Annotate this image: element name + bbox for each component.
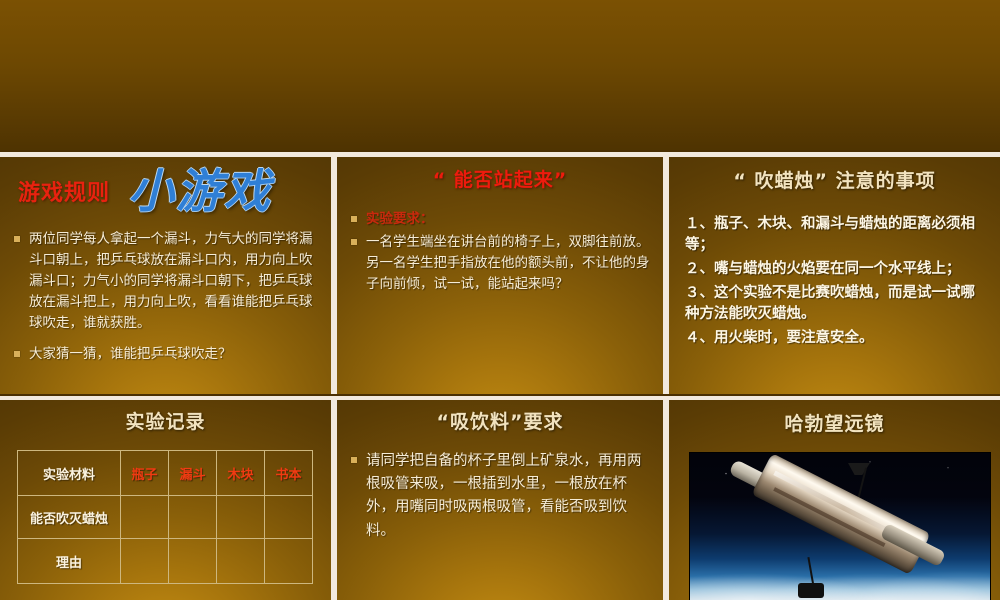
table-header-cell: 木块 bbox=[217, 451, 265, 496]
bullet-text: 一名学生端坐在讲台前的椅子上，双脚往前放。另一名学生把手指放在他的额头前，不让他… bbox=[366, 232, 651, 295]
bullet-text-requirement: 实验要求： bbox=[366, 209, 651, 230]
panel-title: “吸饮料”要求 bbox=[337, 412, 663, 434]
square-bullet-icon bbox=[351, 216, 357, 222]
list-item: ３、这个实验不是比赛吹蜡烛，而是试一试哪种方法能吹灭蜡烛。 bbox=[685, 282, 987, 324]
panel-title: 实验记录 bbox=[0, 412, 331, 434]
panel-title: 哈勃望远镜 bbox=[669, 414, 1000, 436]
panel-hubble-telescope: 哈勃望远镜 bbox=[669, 400, 1000, 600]
table-header-cell: 书本 bbox=[265, 451, 313, 496]
list-item: 请同学把自备的杯子里倒上矿泉水，再用两根吸管来吸，一根插到水里，一根放在杯外，用… bbox=[351, 450, 653, 543]
table-row-label: 理由 bbox=[18, 539, 121, 584]
slide-top-banner bbox=[0, 0, 1000, 152]
table-cell[interactable] bbox=[217, 496, 265, 539]
table-header-cell: 漏斗 bbox=[169, 451, 217, 496]
bullet-text: 两位同学每人拿起一个漏斗，力气大的同学将漏斗口朝上，把乒乓球放在漏斗口内，用力向… bbox=[29, 229, 319, 334]
list-item: 两位同学每人拿起一个漏斗，力气大的同学将漏斗口朝上，把乒乓球放在漏斗口内，用力向… bbox=[14, 229, 319, 334]
list-item: ４、用火柴时，要注意安全。 bbox=[685, 327, 987, 348]
panel-title: “ 能否站起来” bbox=[337, 170, 663, 192]
table-row-label: 实验材料 bbox=[18, 451, 121, 496]
square-bullet-icon bbox=[351, 239, 357, 245]
panel-title: “ 吹蜡烛” 注意的事项 bbox=[669, 171, 1000, 193]
experiment-record-table: 实验材料 瓶子 漏斗 木块 书本 能否吹灭蜡烛 理由 bbox=[17, 450, 313, 584]
table-row-label: 能否吹灭蜡烛 bbox=[18, 496, 121, 539]
list-item: 一名学生端坐在讲台前的椅子上，双脚往前放。另一名学生把手指放在他的额头前，不让他… bbox=[351, 232, 651, 295]
table-header-cell: 瓶子 bbox=[121, 451, 169, 496]
list-item: ２、嘴与蜡烛的火焰要在同一个水平线上； bbox=[685, 258, 987, 279]
list-item: 实验要求： bbox=[351, 209, 651, 230]
list-item: 大家猜一猜，谁能把乒乓球吹走？ bbox=[14, 344, 319, 365]
bullet-text: 大家猜一猜，谁能把乒乓球吹走？ bbox=[29, 344, 319, 365]
panel-experiment-record: 实验记录 实验材料 瓶子 漏斗 木块 书本 能否吹灭蜡烛 理由 bbox=[0, 400, 331, 600]
table-cell[interactable] bbox=[265, 539, 313, 584]
table-row: 能否吹灭蜡烛 bbox=[18, 496, 313, 539]
table-cell[interactable] bbox=[169, 539, 217, 584]
panel-drink-requirements: “吸饮料”要求 请同学把自备的杯子里倒上矿泉水，再用两根吸管来吸，一根插到水里，… bbox=[337, 400, 663, 600]
table-cell[interactable] bbox=[217, 539, 265, 584]
table-row: 实验材料 瓶子 漏斗 木块 书本 bbox=[18, 451, 313, 496]
square-bullet-icon bbox=[14, 236, 20, 242]
banner-hairline bbox=[0, 150, 1000, 152]
list-item: １、瓶子、木块、和漏斗与蜡烛的距离必须相等； bbox=[685, 213, 987, 255]
dish-antenna bbox=[798, 583, 824, 598]
hubble-telescope-image bbox=[690, 453, 990, 600]
presentation-slide: 游戏规则 小游戏 两位同学每人拿起一个漏斗，力气大的同学将漏斗口朝上，把乒乓球放… bbox=[0, 0, 1000, 600]
table-cell[interactable] bbox=[265, 496, 313, 539]
table-cell[interactable] bbox=[169, 496, 217, 539]
table-row: 理由 bbox=[18, 539, 313, 584]
square-bullet-icon bbox=[14, 351, 20, 357]
panel-game-rules: 游戏规则 小游戏 两位同学每人拿起一个漏斗，力气大的同学将漏斗口朝上，把乒乓球放… bbox=[0, 157, 331, 394]
table-cell[interactable] bbox=[121, 539, 169, 584]
bullet-text: 请同学把自备的杯子里倒上矿泉水，再用两根吸管来吸，一根插到水里，一根放在杯外，用… bbox=[366, 450, 653, 543]
square-bullet-icon bbox=[351, 457, 357, 463]
panel-candle-notes: “ 吹蜡烛” 注意的事项 １、瓶子、木块、和漏斗与蜡烛的距离必须相等； ２、嘴与… bbox=[669, 157, 1000, 394]
row-hairline bbox=[0, 394, 1000, 396]
game-rules-red-heading: 游戏规则 bbox=[18, 175, 110, 207]
game-rules-wordart-title: 小游戏 bbox=[128, 157, 272, 221]
table-cell[interactable] bbox=[121, 496, 169, 539]
panel-can-you-stand-up: “ 能否站起来” 实验要求： 一名学生端坐在讲台前的椅子上，双脚往前放。另一名学… bbox=[337, 157, 663, 394]
earth-clouds bbox=[690, 568, 990, 600]
